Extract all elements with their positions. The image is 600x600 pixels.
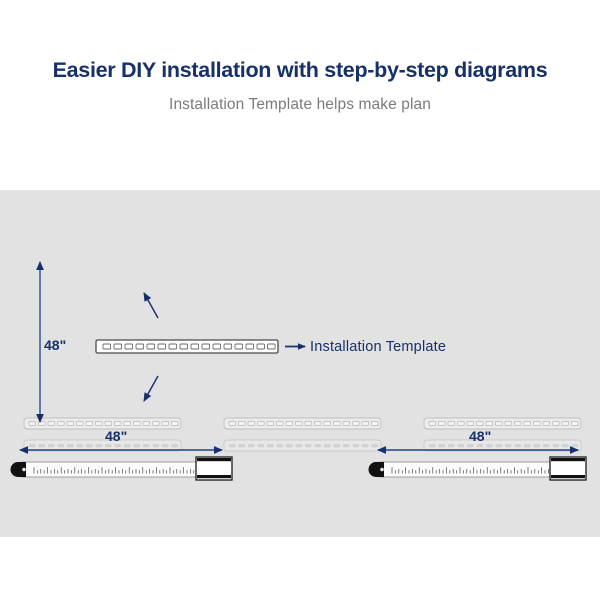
- page-title: Easier DIY installation with step-by-ste…: [0, 58, 600, 83]
- led-bar-bottom-left: [24, 418, 181, 429]
- horizontal-dimension-label-right: 48": [469, 428, 491, 444]
- horizontal-dimension-label-left: 48": [105, 428, 127, 444]
- tape-measure-right: [369, 457, 587, 480]
- tape-measure-left: [11, 457, 233, 480]
- installation-template-bar: [96, 340, 278, 353]
- footer-whitespace: [0, 537, 600, 600]
- vertical-dimension-label: 48": [44, 337, 66, 353]
- led-bar-top-center: [224, 440, 381, 451]
- led-bar-bottom-right: [424, 418, 581, 429]
- diagram-panel: 48" 48" 48" Installation Template: [0, 190, 600, 537]
- header-section: Easier DIY installation with step-by-ste…: [0, 0, 600, 190]
- led-bar-bottom-center: [224, 418, 381, 429]
- page-subtitle: Installation Template helps make plan: [0, 96, 600, 114]
- callout-arrow-down: [144, 376, 158, 401]
- installation-diagram: [0, 190, 600, 537]
- callout-arrow-up: [144, 293, 158, 318]
- installation-template-label: Installation Template: [310, 339, 446, 355]
